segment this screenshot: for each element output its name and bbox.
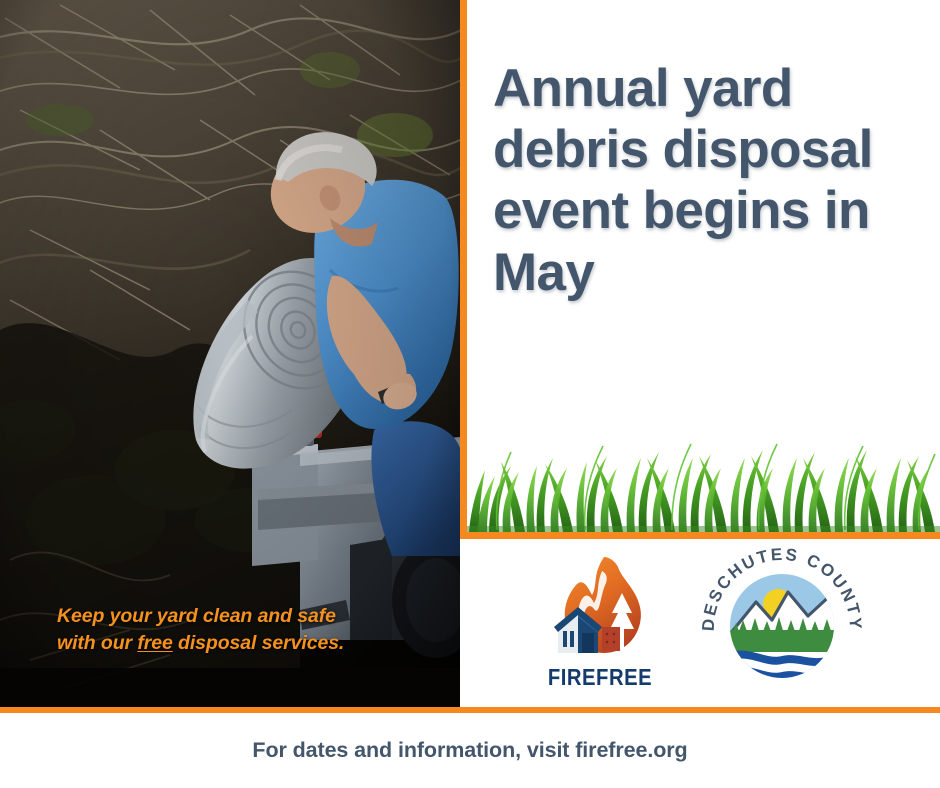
hero-photo: Keep your yard clean and safe with our f… — [0, 0, 460, 708]
grass-strip — [467, 430, 940, 532]
grass-illustration — [467, 430, 940, 532]
overlay-line-1: Keep your yard clean and safe — [57, 605, 336, 627]
footer-bar: For dates and information, visit firefre… — [0, 713, 940, 788]
firefree-wordmark: FIREFREE — [547, 664, 653, 691]
vertical-orange-divider — [460, 0, 467, 539]
overlay-line-2-after: disposal services. — [173, 632, 345, 654]
overlay-emphasis-free: free — [137, 632, 172, 654]
overlay-line-2-before: with our — [57, 632, 137, 654]
footer-text: For dates and information, visit firefre… — [252, 738, 687, 763]
horizontal-orange-divider-mid — [460, 532, 940, 539]
firefree-flame-house-icon — [552, 555, 648, 659]
firefree-logo[interactable]: FIREFREE — [540, 555, 660, 691]
poster-canvas: Keep your yard clean and safe with our f… — [0, 0, 940, 788]
deschutes-county-seal[interactable]: DESCHUTES COUNTY — [696, 548, 868, 698]
horizontal-orange-divider-bottom — [0, 707, 940, 713]
headline: Annual yard debris disposal event begins… — [493, 58, 923, 303]
photo-overlay-caption: Keep your yard clean and safe with our f… — [57, 603, 407, 658]
logo-row: FIREFREE — [467, 539, 940, 707]
